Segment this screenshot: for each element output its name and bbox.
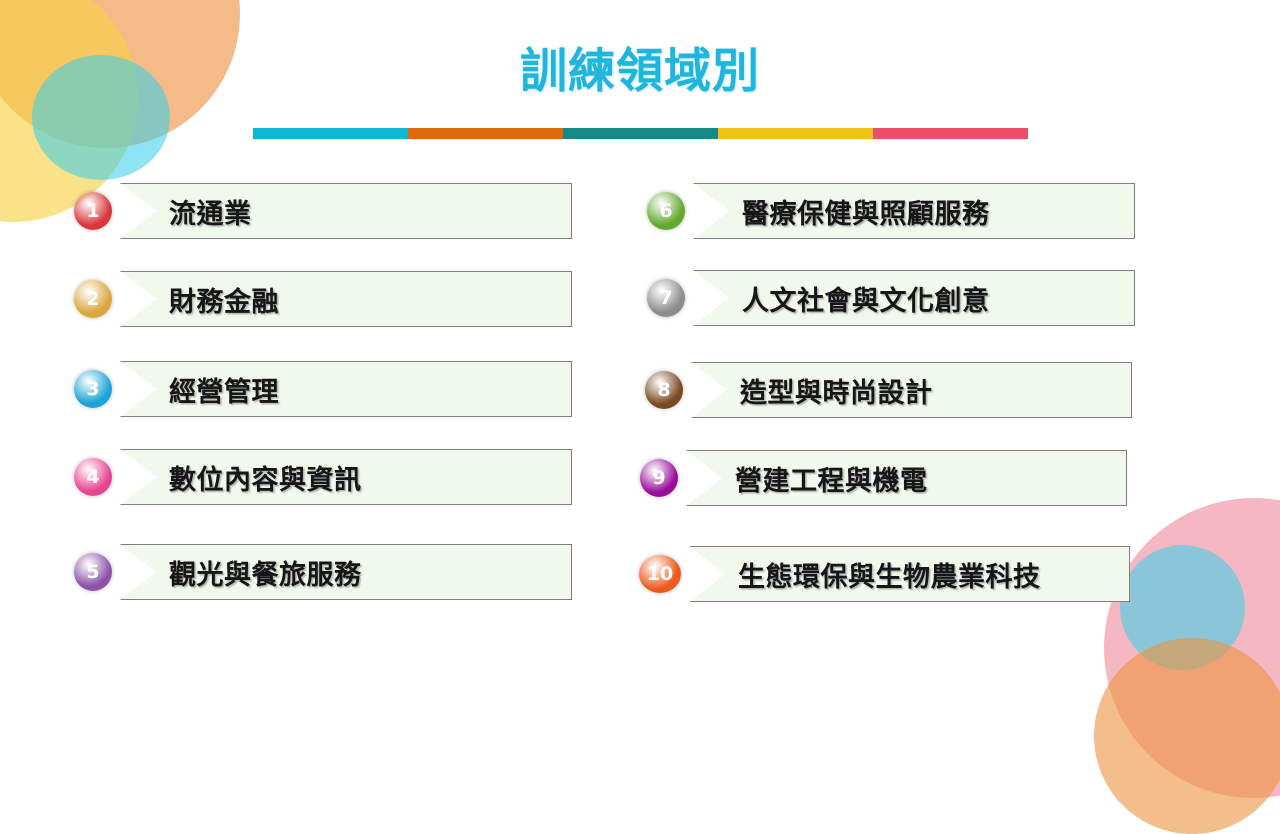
divider-segment-teal: [563, 128, 718, 139]
training-field-banner: 生態環保與生物農業科技: [689, 546, 1130, 602]
training-field-banner: 經營管理: [120, 361, 572, 417]
training-field-label: 觀光與餐旅服務: [169, 553, 362, 592]
training-field-number: 8: [657, 381, 670, 400]
training-field-label: 生態環保與生物農業科技: [738, 555, 1041, 594]
training-field-banner: 觀光與餐旅服務: [120, 544, 572, 600]
training-field-item[interactable]: 觀光與餐旅服務5: [120, 544, 572, 600]
training-field-banner: 流通業: [120, 183, 572, 239]
training-field-label: 人文社會與文化創意: [742, 279, 990, 318]
training-field-number: 10: [647, 565, 673, 584]
training-field-label: 數位內容與資訊: [169, 458, 362, 497]
divider-segment-orange: [408, 128, 563, 139]
training-field-label: 醫療保健與照顧服務: [742, 192, 990, 231]
training-field-item[interactable]: 營建工程與機電9: [686, 450, 1127, 506]
divider-rule: [253, 128, 1028, 139]
training-field-number: 3: [86, 380, 99, 399]
training-field-item[interactable]: 人文社會與文化創意7: [693, 270, 1135, 326]
slide-title-text: 訓練領域別: [520, 48, 760, 95]
training-field-item[interactable]: 造型與時尚設計8: [691, 362, 1132, 418]
training-field-number-badge: 1: [74, 192, 112, 230]
training-field-label: 流通業: [169, 192, 252, 231]
training-field-number: 5: [86, 563, 99, 582]
training-field-banner: 財務金融: [120, 271, 572, 327]
training-field-banner: 數位內容與資訊: [120, 449, 572, 505]
training-field-label: 財務金融: [169, 280, 279, 319]
training-field-number-badge: 2: [74, 280, 112, 318]
training-field-label: 營建工程與機電: [735, 459, 928, 498]
training-field-item[interactable]: 流通業1: [120, 183, 572, 239]
training-field-item[interactable]: 生態環保與生物農業科技10: [689, 546, 1130, 602]
slide-title: 訓練領域別: [0, 48, 1280, 95]
divider-segment-cyan: [253, 128, 408, 139]
training-field-number-badge: 3: [74, 370, 112, 408]
training-field-number: 7: [659, 289, 672, 308]
training-field-list: 流通業1財務金融2經營管理3數位內容與資訊4觀光與餐旅服務5醫療保健與照顧服務6…: [0, 0, 1280, 720]
training-field-number: 4: [86, 468, 99, 487]
training-field-banner: 醫療保健與照顧服務: [693, 183, 1135, 239]
training-field-banner: 人文社會與文化創意: [693, 270, 1135, 326]
training-field-number: 1: [86, 202, 99, 221]
training-field-number-badge: 8: [645, 371, 683, 409]
training-field-number-badge: 10: [639, 555, 681, 593]
training-field-number-badge: 9: [640, 459, 678, 497]
training-field-label: 造型與時尚設計: [740, 371, 933, 410]
divider-segment-pink: [873, 128, 1028, 139]
training-field-number-badge: 4: [74, 458, 112, 496]
training-field-item[interactable]: 醫療保健與照顧服務6: [693, 183, 1135, 239]
training-field-banner: 造型與時尚設計: [691, 362, 1132, 418]
training-field-number-badge: 5: [74, 553, 112, 591]
training-field-number: 6: [659, 202, 672, 221]
training-field-item[interactable]: 財務金融2: [120, 271, 572, 327]
training-field-item[interactable]: 數位內容與資訊4: [120, 449, 572, 505]
training-field-number: 9: [652, 469, 665, 488]
divider-segment-yellow: [718, 128, 873, 139]
training-field-item[interactable]: 經營管理3: [120, 361, 572, 417]
training-field-number: 2: [86, 290, 99, 309]
training-field-number-badge: 6: [647, 192, 685, 230]
training-field-banner: 營建工程與機電: [686, 450, 1127, 506]
training-field-label: 經營管理: [169, 370, 279, 409]
training-field-number-badge: 7: [647, 279, 685, 317]
